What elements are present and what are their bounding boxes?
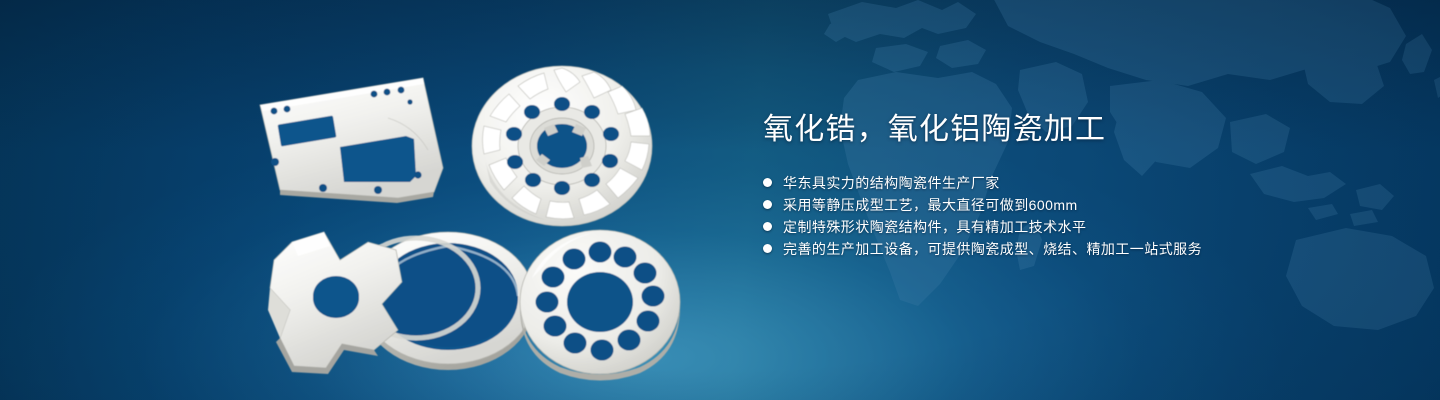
bullet-dot-icon [763, 222, 772, 231]
list-item: 定制特殊形状陶瓷结构件，具有精加工技术水平 [763, 216, 1383, 238]
product-photo-cluster [238, 40, 708, 370]
list-item: 完善的生产加工设备，可提供陶瓷成型、烧结、精加工一站式服务 [763, 238, 1383, 260]
list-item: 采用等静压成型工艺，最大直径可做到600mm [763, 194, 1383, 216]
list-item-label: 完善的生产加工设备，可提供陶瓷成型、烧结、精加工一站式服务 [783, 238, 1202, 260]
page-title: 氧化锆，氧化铝陶瓷加工 [763, 112, 1383, 149]
bullet-dot-icon [763, 178, 772, 187]
bullet-dot-icon [763, 200, 772, 209]
list-item-label: 定制特殊形状陶瓷结构件，具有精加工技术水平 [783, 216, 1086, 238]
banner-copy: 氧化锆，氧化铝陶瓷加工 华东具实力的结构陶瓷件生产厂家 采用等静压成型工艺，最大… [763, 112, 1383, 260]
list-item: 华东具实力的结构陶瓷件生产厂家 [763, 172, 1383, 194]
promo-banner: 氧化锆，氧化铝陶瓷加工 华东具实力的结构陶瓷件生产厂家 采用等静压成型工艺，最大… [0, 0, 1440, 400]
list-item-label: 华东具实力的结构陶瓷件生产厂家 [783, 172, 1000, 194]
feature-list: 华东具实力的结构陶瓷件生产厂家 采用等静压成型工艺，最大直径可做到600mm 定… [763, 172, 1383, 260]
bullet-dot-icon [763, 244, 772, 253]
list-item-label: 采用等静压成型工艺，最大直径可做到600mm [783, 194, 1078, 216]
